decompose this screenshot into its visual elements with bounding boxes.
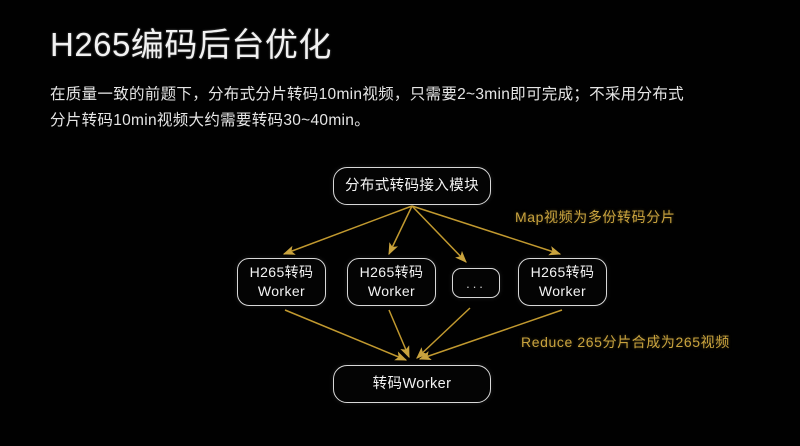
node-worker-1-line-2: Worker [258,282,305,301]
node-entry-label: 分布式转码接入模块 [345,177,479,196]
architecture-diagram: 分布式转码接入模块 H265转码 Worker H265转码 Worker ..… [0,150,800,446]
node-h265-worker-2[interactable]: H265转码 Worker [347,258,436,306]
body-text-line-2: 分片转码10min视频大约需要转码30~40min。 [50,108,770,134]
body-text-line-1: 在质量一致的前题下，分布式分片转码10min视频，只需要2~3min即可完成；不… [50,82,770,108]
annotation-map: Map视频为多份转码分片 [515,207,675,227]
node-worker-2-line-2: Worker [368,282,415,301]
node-worker-3-line-2: Worker [539,282,586,301]
node-worker-ellipsis: ... [452,268,500,298]
body-text: 在质量一致的前题下，分布式分片转码10min视频，只需要2~3min即可完成；不… [50,82,770,134]
node-distributed-transcode-entry[interactable]: 分布式转码接入模块 [333,167,491,205]
node-worker-1-line-1: H265转码 [250,263,314,282]
node-merge-transcode-worker[interactable]: 转码Worker [333,365,491,403]
node-ellipsis-label: ... [466,274,486,293]
slide-canvas: H265编码后台优化 在质量一致的前题下，分布式分片转码10min视频，只需要2… [0,0,800,446]
node-h265-worker-1[interactable]: H265转码 Worker [237,258,326,306]
page-title: H265编码后台优化 [50,24,332,66]
annotation-reduce: Reduce 265分片合成为265视频 [521,332,730,352]
node-merge-label: 转码Worker [373,375,452,394]
node-worker-3-line-1: H265转码 [531,263,595,282]
node-worker-2-line-1: H265转码 [360,263,424,282]
node-h265-worker-3[interactable]: H265转码 Worker [518,258,607,306]
